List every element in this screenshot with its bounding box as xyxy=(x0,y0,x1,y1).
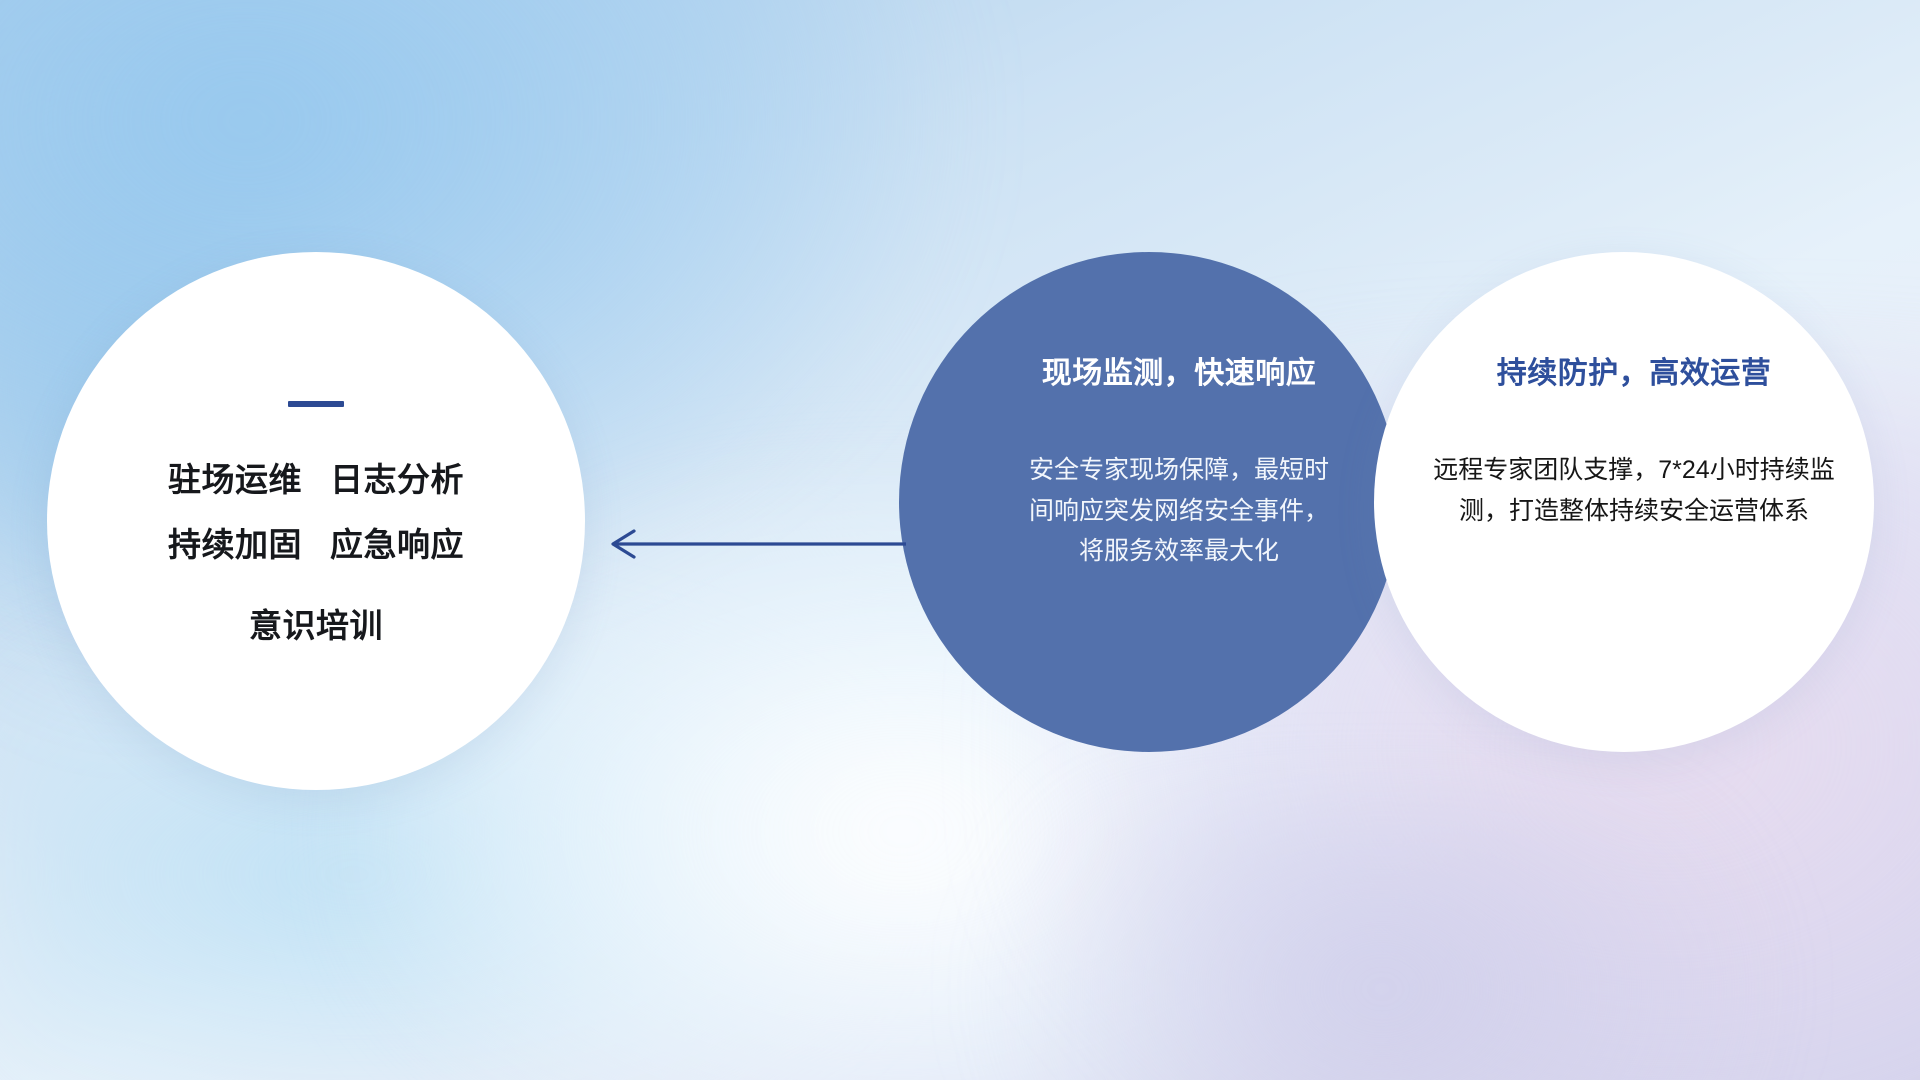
capability-item-awareness-training: 意识培训 xyxy=(249,609,383,642)
arrow-left-icon xyxy=(596,520,906,568)
capability-item-emergency-response: 应急响应 xyxy=(330,526,464,563)
background-glow-bottomright xyxy=(998,799,1766,1080)
capability-item-log-analysis: 日志分析 xyxy=(330,461,464,498)
capability-circle-left: 驻场运维日志分析 持续加固应急响应 意识培训 xyxy=(47,252,585,790)
capability-item-continuous-hardening: 持续加固 xyxy=(168,526,302,563)
capability-circle-right-content: 持续防护，高效运营 远程专家团队支撑，7*24小时持续监测，打造整体持续安全运营… xyxy=(1374,252,1874,752)
capability-circle-middle-content: 现场监测，快速响应 安全专家现场保障，最短时间响应突发网络安全事件，将服务效率最… xyxy=(899,252,1399,752)
middle-circle-body: 安全专家现场保障，最短时间响应突发网络安全事件，将服务效率最大化 xyxy=(1029,450,1329,572)
capability-circle-left-content: 驻场运维日志分析 持续加固应急响应 意识培训 xyxy=(47,252,585,790)
capability-row-1: 驻场运维日志分析 xyxy=(168,463,464,496)
capability-circle-middle: 现场监测，快速响应 安全专家现场保障，最短时间响应突发网络安全事件，将服务效率最… xyxy=(899,252,1399,752)
right-circle-body: 远程专家团队支撑，7*24小时持续监测，打造整体持续安全运营体系 xyxy=(1428,450,1840,531)
right-circle-title: 持续防护，高效运营 xyxy=(1497,356,1772,392)
flow-arrow-left xyxy=(596,520,906,568)
middle-circle-title: 现场监测，快速响应 xyxy=(1042,356,1317,392)
capability-circle-right: 持续防护，高效运营 远程专家团队支撑，7*24小时持续监测，打造整体持续安全运营… xyxy=(1374,252,1874,752)
capability-row-2: 持续加固应急响应 xyxy=(168,528,464,561)
capability-item-onsite-ops: 驻场运维 xyxy=(168,461,302,498)
divider-dash xyxy=(288,401,344,407)
